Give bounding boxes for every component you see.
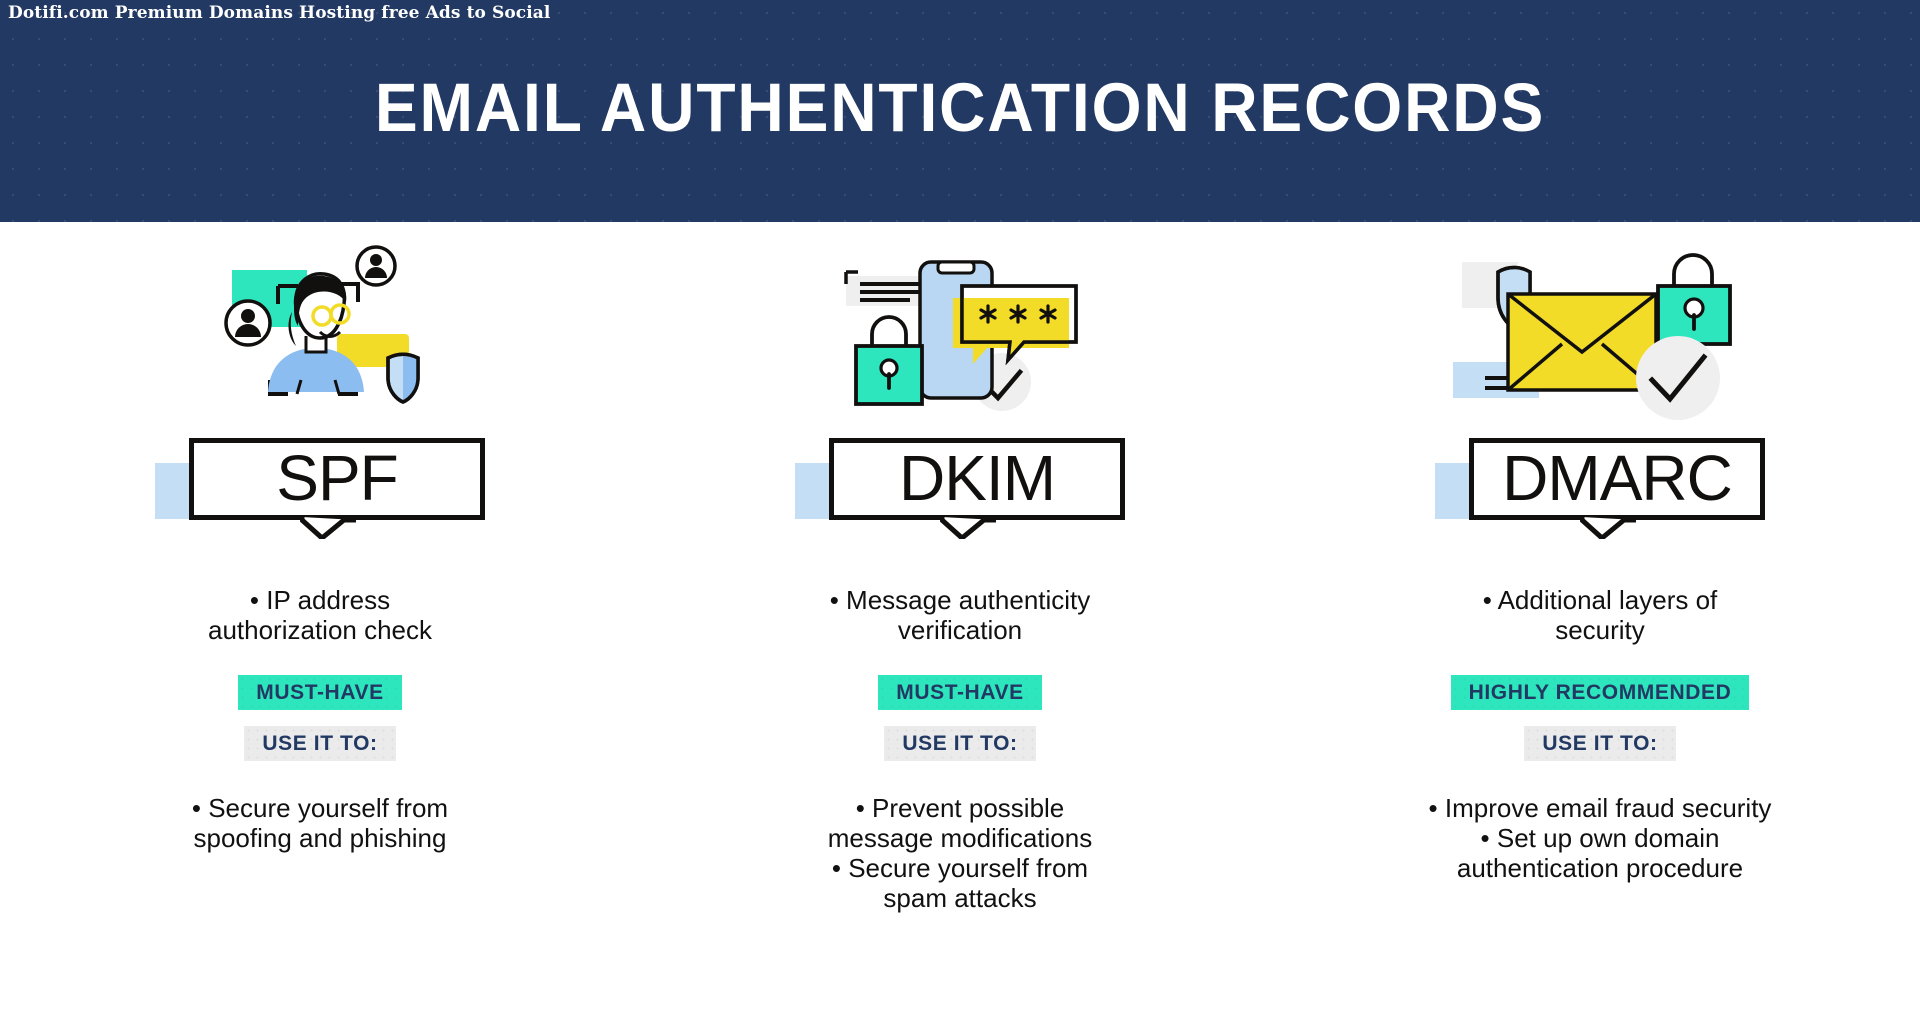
record-uses-spf: • Secure yourself from spoofing and phis… <box>85 793 555 853</box>
description-line: verification <box>740 615 1180 645</box>
page-header: Dotifi.com Premium Domains Hosting free … <box>0 0 1920 222</box>
record-uses-dmarc: • Improve email fraud security • Set up … <box>1365 793 1835 883</box>
use-heading-spf: USE IT TO: <box>244 726 395 761</box>
record-card-dkim: DKIM • Message authenticity verification… <box>640 222 1280 1032</box>
label-text: SPF <box>276 446 397 510</box>
records-columns: SPF • IP address authorization check MUS… <box>0 222 1920 1032</box>
status-badge-spf: MUST-HAVE <box>238 675 402 710</box>
label-box: DKIM <box>829 438 1125 520</box>
status-badge-dkim: MUST-HAVE <box>878 675 1042 710</box>
use-line: • Improve email fraud security <box>1365 793 1835 823</box>
label-tail-icon <box>1580 517 1638 539</box>
description-line: • IP address <box>100 585 540 615</box>
record-label-dmarc: DMARC <box>1435 433 1765 543</box>
description-line: • Additional layers of <box>1380 585 1820 615</box>
label-box: SPF <box>189 438 485 520</box>
page-title: EMAIL AUTHENTICATION RECORDS <box>67 68 1853 147</box>
person-identity-verification-illustration <box>170 240 470 425</box>
use-line: • Secure yourself from <box>85 793 555 823</box>
description-line: • Message authenticity <box>740 585 1180 615</box>
use-line: authentication procedure <box>1365 853 1835 883</box>
label-tail-icon <box>300 517 358 539</box>
envelope-shield-lock-check-illustration <box>1450 240 1750 425</box>
use-line: • Prevent possible <box>725 793 1195 823</box>
use-line: spam attacks <box>725 883 1195 913</box>
record-card-dmarc: DMARC • Additional layers of security HI… <box>1280 222 1920 1032</box>
use-line: spoofing and phishing <box>85 823 555 853</box>
description-line: security <box>1380 615 1820 645</box>
label-box: DMARC <box>1469 438 1765 520</box>
use-line: • Set up own domain <box>1365 823 1835 853</box>
phone-password-lock-illustration <box>810 240 1110 425</box>
record-uses-dkim: • Prevent possible message modifications… <box>725 793 1195 913</box>
record-description-dmarc: • Additional layers of security <box>1380 585 1820 645</box>
record-label-dkim: DKIM <box>795 433 1125 543</box>
site-watermark: Dotifi.com Premium Domains Hosting free … <box>8 3 550 23</box>
use-heading-dmarc: USE IT TO: <box>1524 726 1675 761</box>
record-card-spf: SPF • IP address authorization check MUS… <box>0 222 640 1032</box>
record-description-spf: • IP address authorization check <box>100 585 540 645</box>
label-tail-icon <box>940 517 998 539</box>
description-line: authorization check <box>100 615 540 645</box>
label-text: DMARC <box>1502 446 1732 510</box>
record-description-dkim: • Message authenticity verification <box>740 585 1180 645</box>
status-badge-dmarc: HIGHLY RECOMMENDED <box>1451 675 1750 710</box>
label-text: DKIM <box>899 446 1055 510</box>
use-line: message modifications <box>725 823 1195 853</box>
record-label-spf: SPF <box>155 433 485 543</box>
use-line: • Secure yourself from <box>725 853 1195 883</box>
use-heading-dkim: USE IT TO: <box>884 726 1035 761</box>
